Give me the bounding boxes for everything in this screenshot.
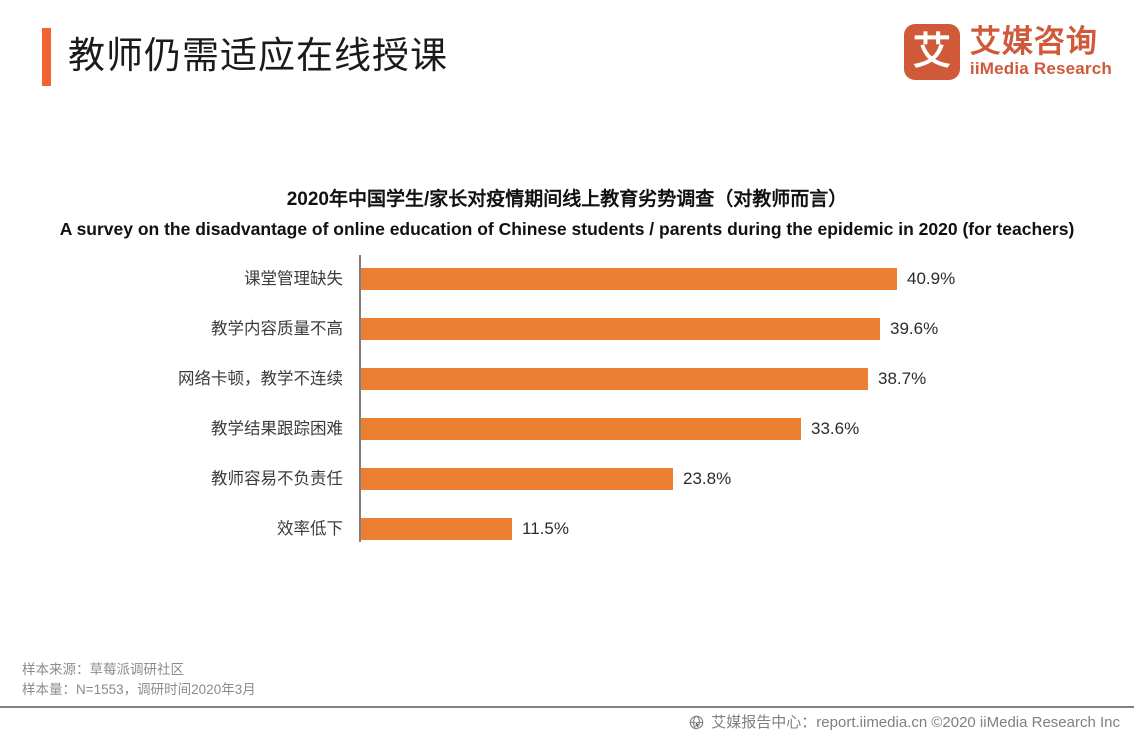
bar-category-label: 效率低下 — [0, 518, 343, 540]
bar-chart-plot: 课堂管理缺失 40.9% 教学内容质量不高 39.6% 网络卡顿，教学不连续 3… — [0, 255, 1134, 545]
logo-name-en: iiMedia Research — [970, 59, 1112, 79]
header-accent-bar — [42, 28, 51, 86]
bar-value-label: 23.8% — [683, 468, 731, 490]
bar-4[interactable] — [361, 468, 673, 490]
source-note: 样本来源：草莓派调研社区 样本量：N=1553，调研时间2020年3月 — [22, 660, 256, 700]
bar-5[interactable] — [361, 518, 512, 540]
bar-0[interactable] — [361, 268, 897, 290]
bar-row: 课堂管理缺失 40.9% — [0, 268, 1134, 290]
bar-row: 效率低下 11.5% — [0, 518, 1134, 540]
bar-row: 网络卡顿，教学不连续 38.7% — [0, 368, 1134, 390]
page-footer: 艾媒报告中心：report.iimedia.cn ©2020 iiMedia R… — [0, 708, 1134, 737]
page-title: 教师仍需适应在线授课 — [68, 27, 448, 85]
source-line-1: 样本来源：草莓派调研社区 — [22, 660, 256, 680]
bar-category-label: 网络卡顿，教学不连续 — [0, 368, 343, 390]
bar-category-label: 教学内容质量不高 — [0, 318, 343, 340]
brand-logo: 艾 艾媒咨询 iiMedia Research — [904, 24, 1112, 80]
globe-cursor-icon — [689, 715, 705, 731]
bar-1[interactable] — [361, 318, 880, 340]
source-line-2: 样本量：N=1553，调研时间2020年3月 — [22, 680, 256, 700]
page-header: 教师仍需适应在线授课 艾 艾媒咨询 iiMedia Research — [0, 0, 1134, 110]
bar-category-label: 教学结果跟踪困难 — [0, 418, 343, 440]
bar-value-label: 38.7% — [878, 368, 926, 390]
bar-value-label: 39.6% — [890, 318, 938, 340]
chart-title-en: A survey on the disadvantage of online e… — [0, 215, 1134, 243]
bar-row: 教学结果跟踪困难 33.6% — [0, 418, 1134, 440]
logo-name-cn: 艾媒咨询 — [970, 25, 1112, 59]
footer-text: 艾媒报告中心：report.iimedia.cn ©2020 iiMedia R… — [711, 712, 1120, 734]
bar-value-label: 40.9% — [907, 268, 955, 290]
category-axis-line — [359, 255, 361, 542]
bar-category-label: 课堂管理缺失 — [0, 268, 343, 290]
bar-row: 教学内容质量不高 39.6% — [0, 318, 1134, 340]
bar-3[interactable] — [361, 418, 801, 440]
logo-text: 艾媒咨询 iiMedia Research — [970, 25, 1112, 79]
bar-category-label: 教师容易不负责任 — [0, 468, 343, 490]
bar-2[interactable] — [361, 368, 868, 390]
chart-container: 2020年中国学生/家长对疫情期间线上教育劣势调查（对教师而言） A surve… — [0, 185, 1134, 545]
logo-mark-icon: 艾 — [904, 24, 960, 80]
bar-row: 教师容易不负责任 23.8% — [0, 468, 1134, 490]
bar-value-label: 33.6% — [811, 418, 859, 440]
bar-value-label: 11.5% — [522, 518, 569, 540]
chart-title-cn: 2020年中国学生/家长对疫情期间线上教育劣势调查（对教师而言） — [0, 185, 1134, 215]
